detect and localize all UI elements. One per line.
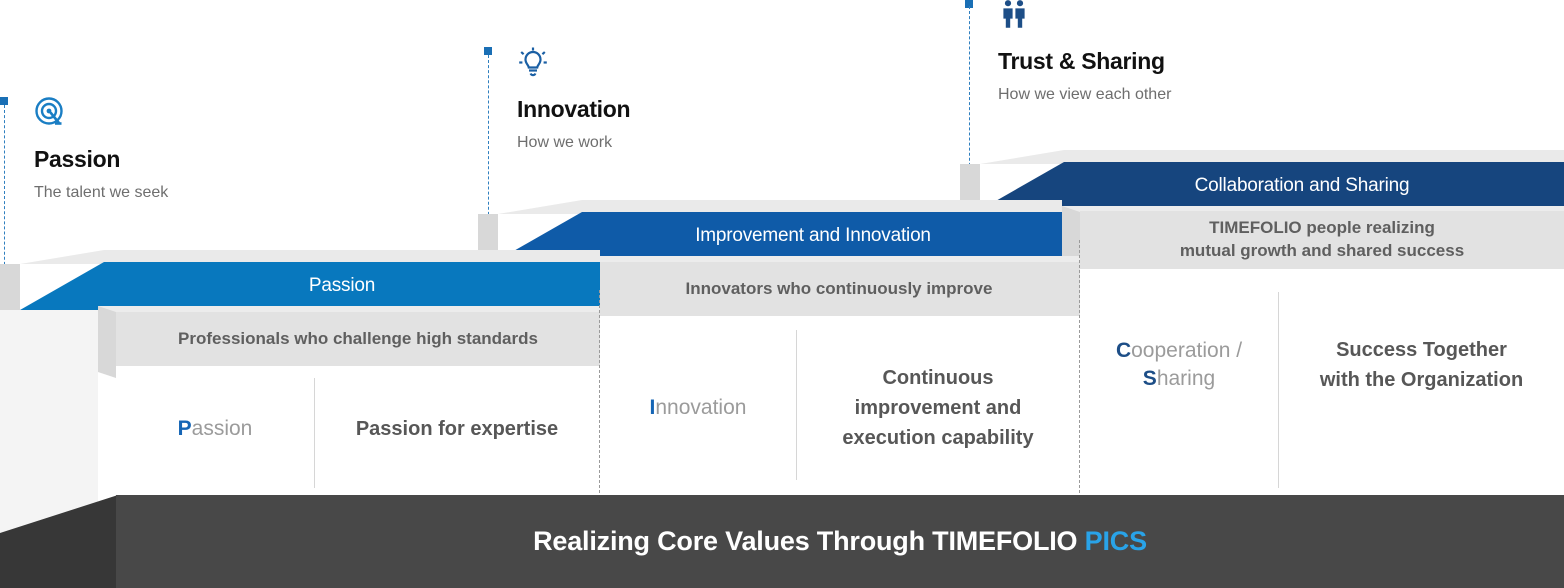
- cell-initial-rest: ooperation /: [1131, 339, 1242, 362]
- two-people-icon: [998, 0, 1032, 32]
- desc-line2: improvement and: [855, 397, 1022, 419]
- core-values-diagram: Passion The talent we seek Innovation Ho…: [0, 0, 1564, 588]
- callout-subtitle: The talent we seek: [34, 184, 168, 202]
- cell-initial-rest: assion: [192, 417, 253, 440]
- cell-desc-cooperation: Success Together with the Organization: [1279, 300, 1564, 430]
- step1-gray-label: Professionals who challenge high standar…: [116, 312, 600, 366]
- lightbulb-icon: [517, 46, 551, 80]
- desc-line2: with the Organization: [1320, 369, 1523, 391]
- cell-initial: C: [1116, 339, 1131, 362]
- cell-initial-rest: nnovation: [655, 396, 746, 419]
- step2-bar-label: Improvement and Innovation: [578, 218, 1048, 254]
- footer-text-main: Realizing Core Values Through TIMEFOLIO: [533, 526, 1085, 556]
- callout-title: Passion: [34, 146, 120, 173]
- footer-text-highlight: PICS: [1085, 526, 1147, 556]
- cell-desc-text: Success Together with the Organization: [1320, 335, 1523, 395]
- cell-keyword-cooperation: Cooperation / Sharing: [1080, 300, 1278, 430]
- cell-keyword-innovation: Innovation: [600, 343, 796, 473]
- step3-gray-label: TIMEFOLIO people realizing mutual growth…: [1080, 211, 1564, 269]
- cell-initial: P: [178, 417, 192, 440]
- cell-desc-text: Passion for expertise: [356, 414, 558, 444]
- step3-gray-line2: mutual growth and shared success: [1180, 241, 1464, 260]
- desc-line1: Continuous: [882, 367, 993, 389]
- cell-desc-innovation: Continuous improvement and execution cap…: [797, 343, 1079, 473]
- cell-desc-text: Continuous improvement and execution cap…: [842, 363, 1033, 453]
- desc-line3: execution capability: [842, 427, 1033, 449]
- callout-subtitle: How we work: [517, 134, 612, 152]
- connector-dot-passion: [0, 97, 8, 105]
- footer-text: Realizing Core Values Through TIMEFOLIO …: [533, 526, 1147, 557]
- desc-line1: Success Together: [1336, 339, 1507, 361]
- cell-second-rest: haring: [1157, 367, 1215, 390]
- callout-subtitle: How we view each other: [998, 86, 1171, 104]
- cell-second-initial: S: [1143, 367, 1157, 390]
- step2-gray-label: Innovators who continuously improve: [598, 262, 1080, 316]
- target-icon: [34, 96, 68, 130]
- cell-desc-passion: Passion for expertise: [315, 366, 599, 492]
- callout-title: Innovation: [517, 96, 630, 123]
- step1-bar-label: Passion: [100, 268, 584, 304]
- connector-dot-innovation: [484, 47, 492, 55]
- footer-banner: Realizing Core Values Through TIMEFOLIO …: [116, 495, 1564, 588]
- step3-bar-label: Collaboration and Sharing: [1060, 168, 1544, 204]
- step3-gray-line1: TIMEFOLIO people realizing: [1209, 218, 1435, 237]
- footer-left-3d-face: [0, 495, 118, 588]
- cell-keyword-passion: Passion: [116, 366, 314, 492]
- callout-title: Trust & Sharing: [998, 48, 1165, 75]
